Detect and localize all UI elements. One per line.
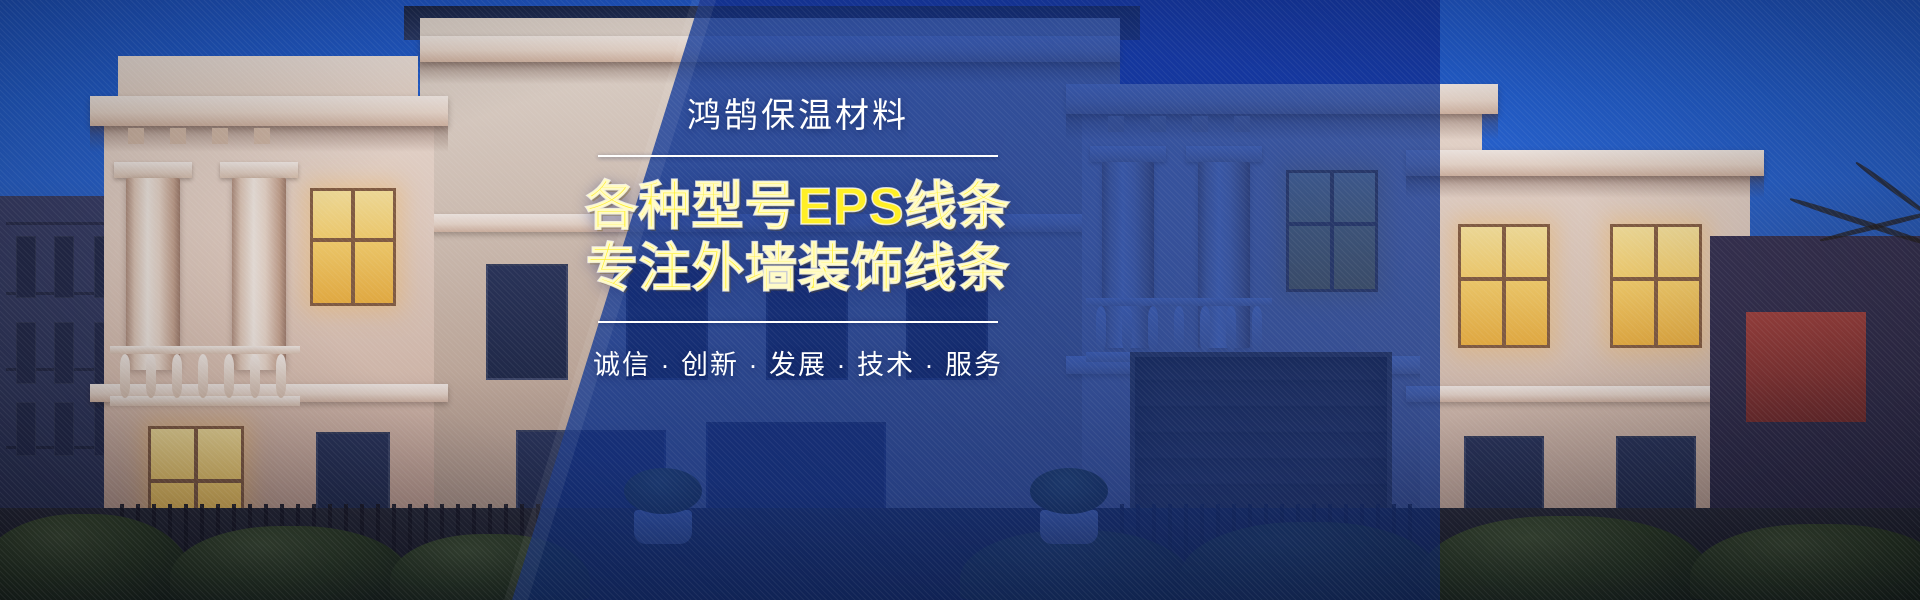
headline-line-2: 专注外墙装饰线条	[568, 239, 1028, 299]
banner-text-block: 鸿鹄保温材料 各种型号EPS线条 专注外墙装饰线条 诚信 · 创新 · 发展 ·…	[568, 96, 1028, 382]
divider-top	[598, 155, 998, 157]
promo-banner: 鸿鹄保温材料 各种型号EPS线条 专注外墙装饰线条 诚信 · 创新 · 发展 ·…	[0, 0, 1920, 600]
headline-line-1: 各种型号EPS线条	[568, 177, 1028, 237]
brand-name: 鸿鹄保温材料	[568, 96, 1028, 137]
divider-bottom	[598, 321, 998, 323]
tagline: 诚信 · 创新 · 发展 · 技术 · 服务	[568, 343, 1028, 382]
